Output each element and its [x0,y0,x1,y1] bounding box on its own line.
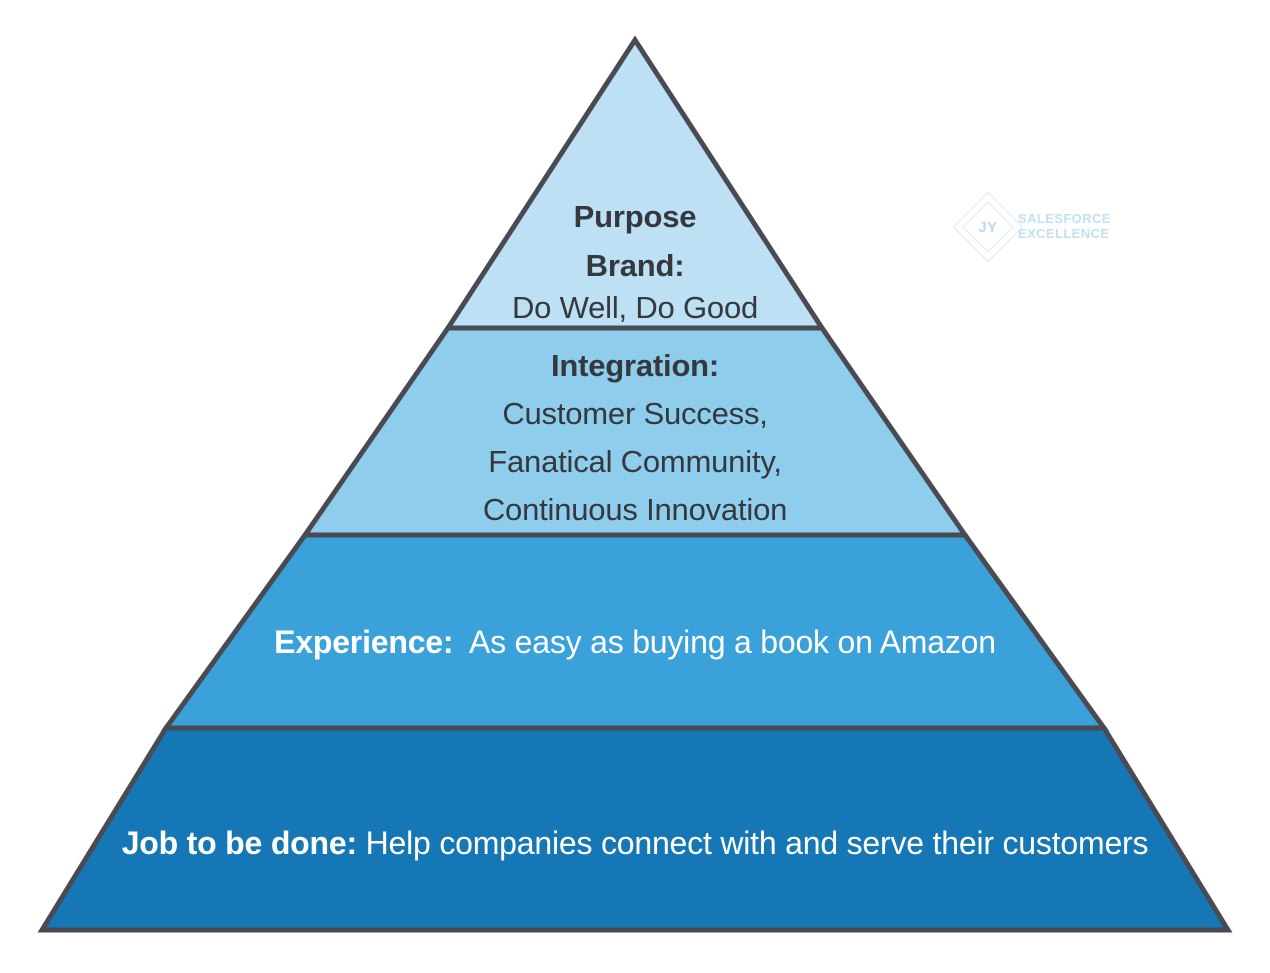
pyramid-tier-1-text: Purpose Brand: Do Well, Do Good [430,193,840,323]
pyramid-diagram-canvas: JY SALESFORCE EXCELLENCE Purpose Brand: … [0,0,1270,973]
tier-1-detail: Do Well, Do Good [430,292,840,323]
tier-1-label-line-2: Brand: [430,242,840,291]
tier-1-label-line-1: Purpose [430,193,840,242]
tier-2-detail-line-1: Customer Success, [395,390,875,438]
tier-4-label: Job to be done: [122,825,357,861]
pyramid-tier-4-text: Job to be done: Help companies connect w… [115,819,1155,867]
tier-2-detail-line-3: Continuous Innovation [395,486,875,534]
tier-2-detail-line-2: Fanatical Community, [395,438,875,486]
tier-4-detail: Help companies connect with and serve th… [366,825,1149,861]
tier-3-label: Experience: [274,624,453,660]
pyramid-tier-2-text: Integration: Customer Success, Fanatical… [395,342,875,534]
tier-2-label: Integration: [395,342,875,390]
tier-3-detail: As easy as buying a book on Amazon [469,624,996,660]
pyramid-tier-3-text: Experience: As easy as buying a book on … [235,618,1035,666]
